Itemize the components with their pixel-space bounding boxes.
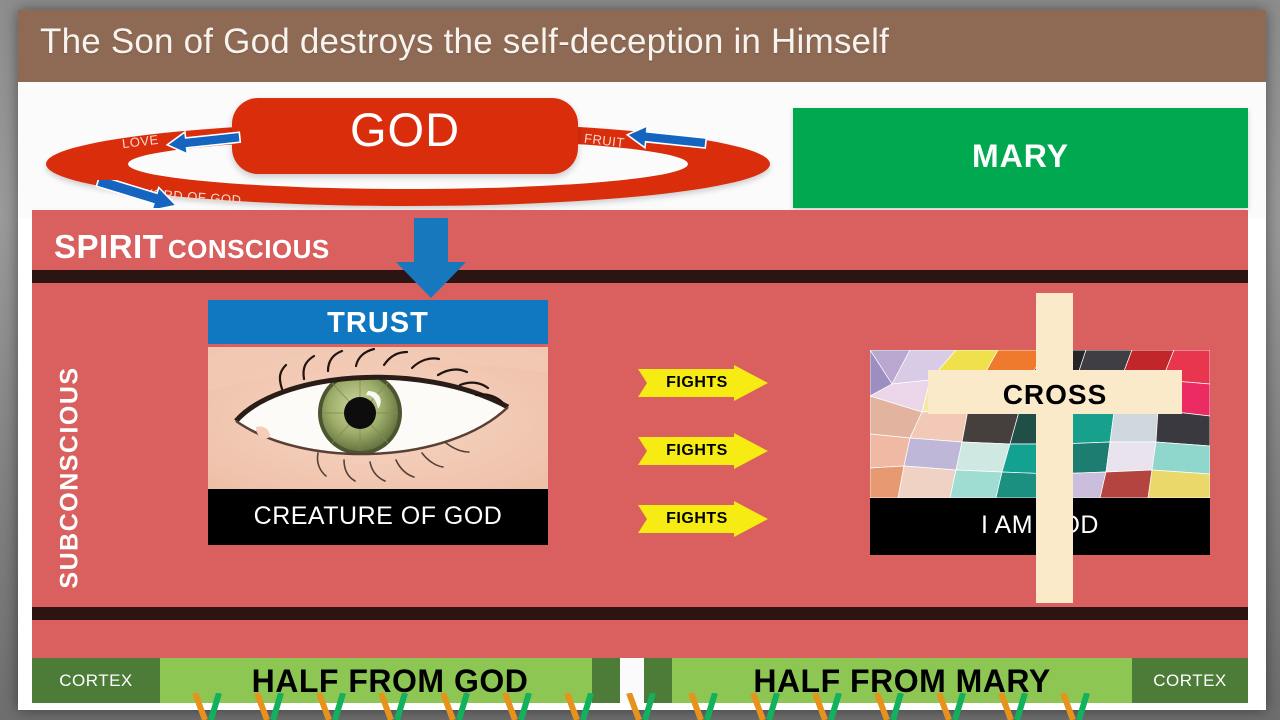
trust-card[interactable]: TRUST: [208, 300, 548, 545]
mary-label: MARY: [793, 138, 1248, 175]
cortex-left-label: CORTEX: [32, 671, 160, 691]
subconscious-label: SUBCONSCIOUS: [56, 353, 85, 603]
god-box[interactable]: GOD: [232, 98, 578, 174]
spirit-word: SPIRIT: [54, 228, 163, 265]
trust-label: TRUST: [208, 307, 548, 340]
cross-vertical-beam: [1036, 293, 1073, 603]
fights-arrow-3: FIGHTS: [638, 501, 768, 537]
fruit-arrow-icon: [622, 126, 712, 152]
arrow-down-icon: [392, 218, 470, 300]
spirit-conscious-label: SPIRIT CONSCIOUS: [54, 228, 330, 266]
page-title: The Son of God destroys the self-decepti…: [40, 22, 889, 62]
word-of-god-arrow-icon: [94, 180, 184, 208]
human-eye-photo: [208, 347, 548, 489]
fights-label: FIGHTS: [638, 442, 756, 460]
fights-label: FIGHTS: [638, 374, 756, 392]
love-arrow-icon: [162, 128, 246, 154]
conscious-divider-line: [32, 270, 1248, 283]
creature-of-god-label: CREATURE OF GOD: [208, 502, 548, 531]
nerve-stripes: [0, 693, 1280, 720]
trust-card-footer: CREATURE OF GOD: [208, 489, 548, 545]
conscious-word: CONSCIOUS: [168, 234, 330, 264]
mary-box[interactable]: MARY: [793, 108, 1248, 208]
god-label: GOD: [232, 102, 578, 157]
slide-title-bar: The Son of God destroys the self-decepti…: [18, 10, 1266, 82]
trust-card-header: TRUST: [208, 300, 548, 344]
cross-label: CROSS: [928, 379, 1182, 411]
fights-label: FIGHTS: [638, 510, 756, 528]
subconscious-divider-line: [32, 607, 1248, 620]
fights-arrow-1: FIGHTS: [638, 365, 768, 401]
spirit-panel: SPIRIT CONSCIOUS SUBCONSCIOUS TRUST: [32, 210, 1248, 658]
slide-canvas: The Son of God destroys the self-decepti…: [18, 10, 1266, 710]
god-cluster: GOD LOVE FRUIT WORD OF GOD: [32, 98, 792, 216]
cortex-right-label: CORTEX: [1132, 671, 1248, 691]
fights-arrow-2: FIGHTS: [638, 433, 768, 469]
